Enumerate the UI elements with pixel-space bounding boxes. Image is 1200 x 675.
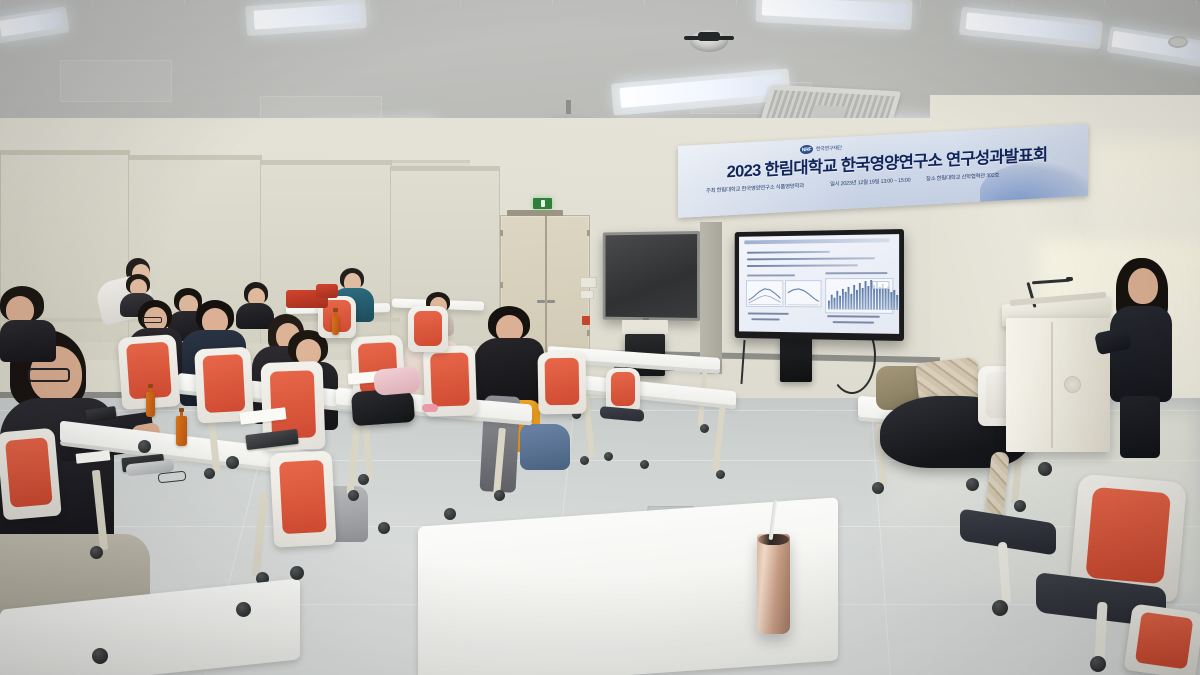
presentation-slide: [739, 234, 899, 334]
slide-footer-note: [833, 321, 874, 323]
slide-bullet: [747, 264, 858, 267]
chair[interactable]: [606, 368, 640, 412]
slide-footer-note: [751, 318, 779, 320]
chair[interactable]: [408, 306, 448, 352]
wall-switch-plate[interactable]: [580, 277, 597, 288]
table-caster: [716, 470, 725, 479]
chair-caster: [444, 508, 456, 520]
person-seated: [474, 306, 546, 410]
eyeglasses: [28, 368, 70, 382]
tumbler[interactable]: [757, 534, 790, 634]
logo-mark-text: NRF: [802, 146, 811, 153]
presenter-torso: [1110, 306, 1172, 402]
bottle[interactable]: [176, 416, 187, 446]
floor-speaker: [780, 336, 812, 382]
chair-caster: [92, 648, 108, 664]
chair[interactable]: [537, 352, 586, 415]
fire-equipment-marker: [582, 316, 590, 325]
table-caster: [1014, 500, 1026, 512]
slide-chart-caption: [825, 272, 887, 274]
table-caster: [348, 490, 359, 501]
logo-name: 한국연구재단: [816, 144, 842, 152]
wall-pillar: [700, 222, 722, 374]
seminar-room-photo: NRF 한국연구재단 2023 한림대학교 한국영양연구소 연구성과발표회 주최…: [0, 0, 1200, 675]
table-caster: [700, 424, 709, 433]
chair-caster: [138, 440, 151, 453]
chair-caster: [966, 478, 979, 491]
wall-outlet-plate[interactable]: [580, 290, 594, 299]
wall-display-monitor: [603, 231, 700, 321]
line-chart-1-svg: [747, 281, 782, 306]
chair-caster: [290, 566, 304, 580]
table-caster: [358, 474, 369, 485]
bottle[interactable]: [332, 316, 339, 335]
slide-header: [744, 238, 889, 244]
chair-caster: [1038, 462, 1052, 476]
slide-line-chart-2: [785, 280, 821, 307]
table-caster: [204, 468, 215, 479]
chair-caster: [992, 600, 1008, 616]
slide-footer-note: [827, 315, 880, 318]
chair-caster: [640, 460, 649, 469]
chair-caster: [236, 602, 251, 617]
line-chart-2-svg: [786, 281, 821, 306]
pink-accessory: [422, 404, 438, 412]
presenter-head: [1128, 268, 1158, 304]
chair[interactable]: [0, 428, 62, 521]
exit-sign: [533, 198, 552, 209]
chair-caster: [226, 456, 239, 469]
red-bag[interactable]: [316, 284, 338, 298]
chair[interactable]: [1124, 603, 1200, 675]
person-legs-jeans: [520, 424, 570, 470]
presenter: [1110, 258, 1178, 458]
slide-footer-note: [748, 313, 789, 315]
projection-screen: [735, 229, 904, 341]
slide-chart-caption: [747, 274, 795, 276]
table-caster: [872, 482, 884, 494]
presenter-legs: [1120, 396, 1160, 458]
monitor-stand-shelf: [622, 320, 668, 334]
bar-chart-legend: [872, 281, 889, 289]
slide-bullet: [747, 251, 830, 254]
slide-bullet: [747, 257, 875, 260]
table-caster: [580, 456, 589, 465]
slide-line-chart-1: [746, 280, 783, 307]
podium: [1006, 300, 1110, 452]
table-caster: [90, 546, 103, 559]
podium-emblem: [1064, 376, 1081, 393]
eyeglasses: [142, 317, 162, 323]
chair-caster: [378, 522, 390, 534]
chair[interactable]: [270, 450, 337, 547]
bottle[interactable]: [146, 392, 155, 417]
pink-pouch[interactable]: [373, 366, 421, 396]
chair-caster: [1090, 656, 1106, 672]
table-caster: [494, 490, 505, 501]
microphone-head: [1066, 277, 1073, 281]
smoke-detector: [1168, 36, 1188, 48]
person-seated: [0, 286, 60, 360]
chair-caster: [604, 452, 613, 461]
ceiling-speaker-dome: [690, 30, 728, 52]
sunlight-patch: [1090, 140, 1200, 270]
